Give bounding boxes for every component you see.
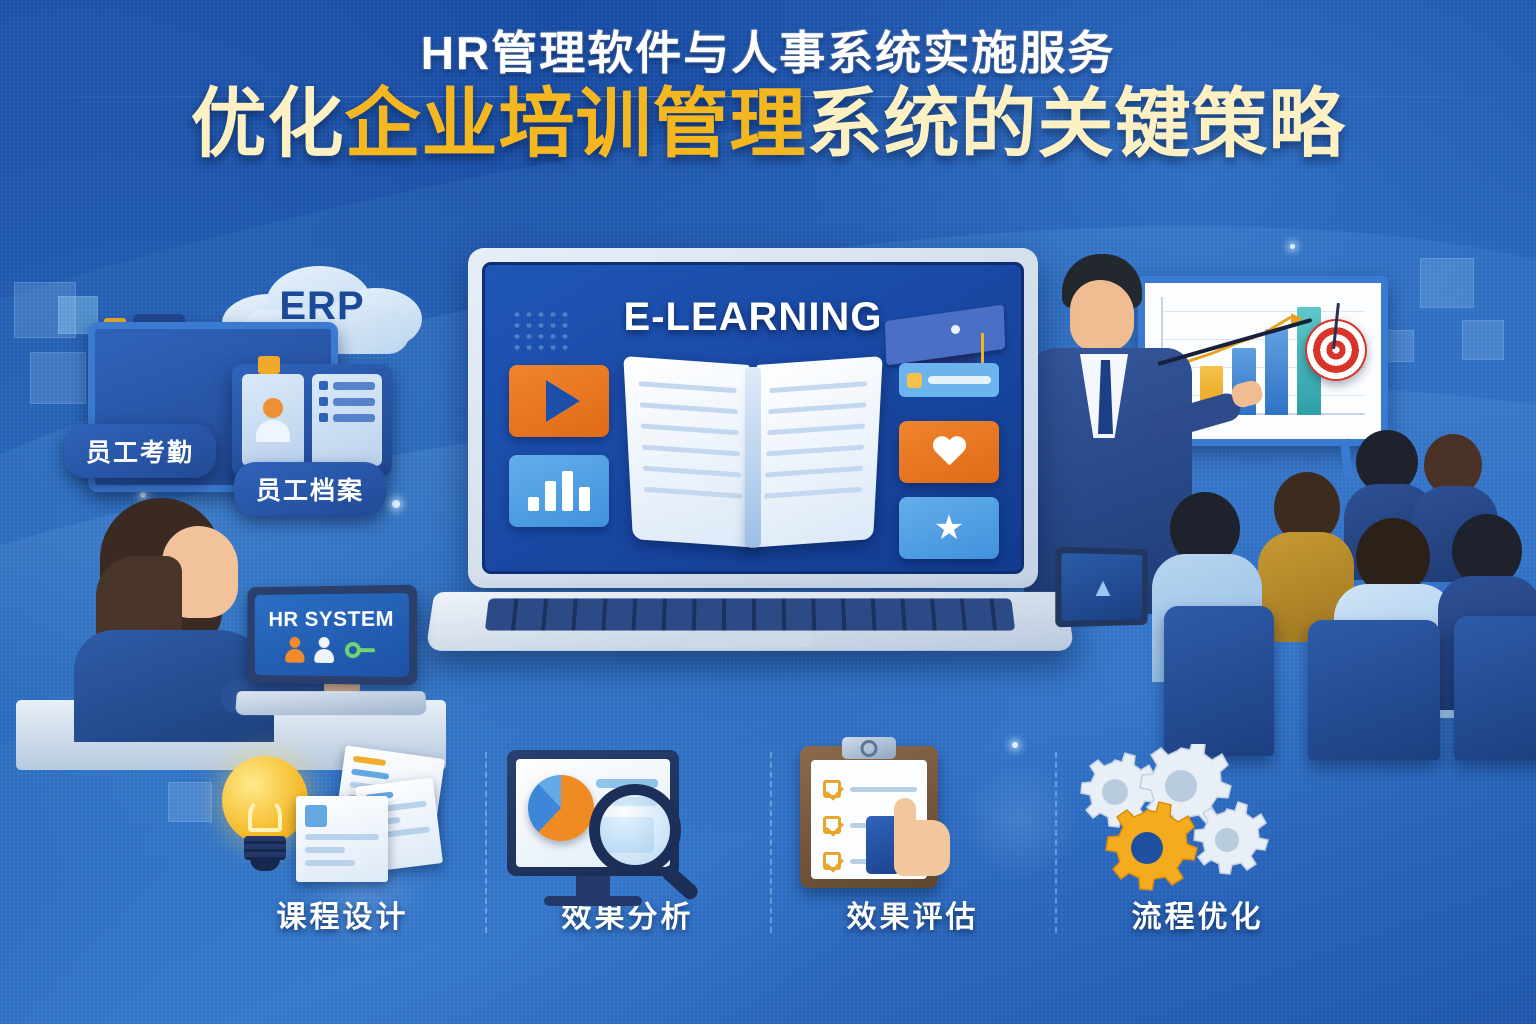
- feature-label: 课程设计: [277, 892, 409, 936]
- documents-icon: [292, 752, 442, 882]
- feature-label: 效果评估: [847, 892, 979, 936]
- feature-row: 课程设计: [200, 742, 1340, 967]
- ui-chip-badge: [899, 363, 999, 397]
- bg-square: [30, 352, 86, 404]
- feature-label: 流程优化: [1132, 892, 1264, 936]
- auditorium-seat: [1308, 620, 1440, 760]
- elearning-laptop: E-LEARNING: [430, 248, 1070, 688]
- auditorium-seat: [1454, 616, 1536, 760]
- target-bullseye-icon: [1305, 319, 1367, 381]
- person-orange-icon: [286, 636, 303, 662]
- clipboard-thumbsup-icon: [770, 742, 1055, 892]
- bg-square: [1462, 320, 1504, 360]
- title-part-1: 优化: [191, 82, 345, 167]
- key-green-icon: [345, 642, 375, 658]
- page-subtitle: HR管理软件与人事系统实施服务: [0, 28, 1536, 79]
- badge-employee-attendance[interactable]: 员工考勤: [64, 424, 216, 478]
- id-card-icon: [232, 364, 392, 476]
- bg-square: [14, 282, 76, 338]
- play-icon: [546, 380, 580, 422]
- magnifier-icon: [589, 784, 681, 876]
- bg-square: [1420, 258, 1474, 308]
- heart-icon: [932, 437, 966, 467]
- lightbulb-documents-icon: [200, 742, 485, 892]
- laptop-screen: E-LEARNING: [482, 262, 1024, 574]
- thumbs-up-icon: [866, 794, 954, 880]
- laptop-trackpad[interactable]: [681, 633, 813, 647]
- clipboard-icon: [800, 746, 938, 888]
- feature-course-design[interactable]: 课程设计: [200, 742, 485, 967]
- banner-canvas: HR管理软件与人事系统实施服务 优化企业培训管理系统的关键策略 ERP 员工考勤…: [0, 0, 1536, 1024]
- chip-swatch-icon: [907, 373, 922, 388]
- bg-sparkle: [392, 500, 400, 508]
- title-part-2: 企业培训管理: [345, 82, 807, 167]
- laptop-keyboard[interactable]: [485, 598, 1015, 630]
- monitor-pie-magnifier-icon: [485, 742, 770, 892]
- heart-tile[interactable]: [899, 421, 999, 483]
- auditorium-seat: [1164, 606, 1274, 756]
- feature-effect-evaluation[interactable]: 效果评估: [770, 742, 1055, 967]
- feature-process-optimization[interactable]: 流程优化: [1055, 742, 1340, 967]
- star-icon: ★: [934, 511, 964, 545]
- page-title: 优化企业培训管理系统的关键策略: [0, 85, 1536, 166]
- person-white-icon: [315, 636, 333, 662]
- laptop-base: [426, 592, 1075, 651]
- header: HR管理软件与人事系统实施服务 优化企业培训管理系统的关键策略: [0, 28, 1536, 165]
- feature-effect-analysis[interactable]: 效果分析: [485, 742, 770, 967]
- open-book-icon: [628, 361, 878, 551]
- title-part-3: 系统的关键策略: [807, 82, 1346, 167]
- gears-icon: [1055, 742, 1340, 892]
- bg-sparkle: [1290, 244, 1295, 249]
- bar-chart-tile[interactable]: [509, 455, 609, 527]
- bar-chart-icon: [528, 471, 590, 511]
- hr-system-screen-title: HR SYSTEM: [268, 607, 394, 632]
- star-tile[interactable]: ★: [899, 497, 999, 559]
- chip-line: [928, 376, 991, 384]
- play-tile[interactable]: [509, 365, 609, 437]
- audience-group: [1082, 430, 1536, 760]
- hr-system-laptop: HR SYSTEM: [236, 586, 426, 716]
- gears-svg: [1069, 744, 1269, 894]
- pie-chart-icon: [528, 775, 594, 841]
